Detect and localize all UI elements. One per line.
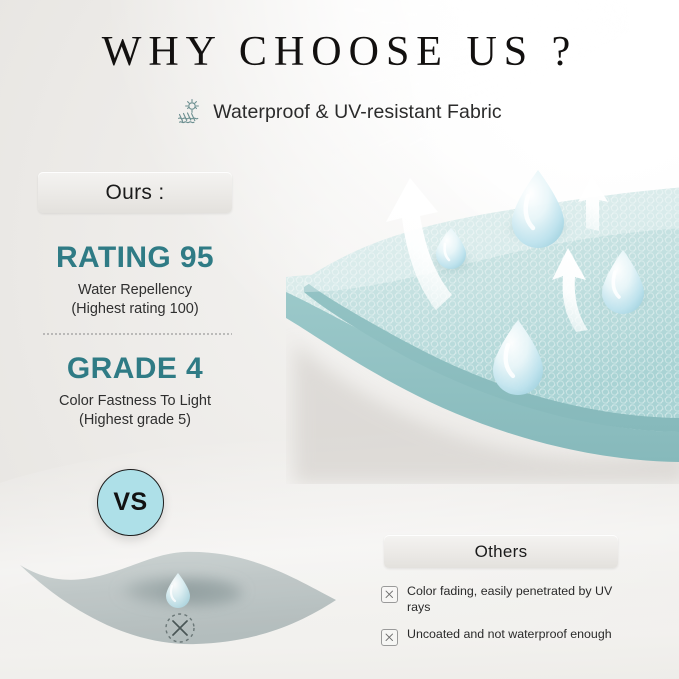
grade-caption-line2: (Highest grade 5) [0,411,270,430]
others-bullet-text: Uncoated and not waterproof enough [407,627,612,643]
grade-caption-line1: Color Fastness To Light [0,392,270,411]
rating-caption-line2: (Highest rating 100) [0,300,270,319]
x-checkbox-icon [381,586,398,603]
gray-soaked-fabric-illustration [14,540,364,672]
others-bullet-text: Color fading, easily penetrated by UV ra… [407,584,627,615]
infographic-canvas: WHY CHOOSE US ? Waterproof & UV-resistan… [0,0,679,679]
rating-caption: Water Repellency (Highest rating 100) [0,281,270,319]
rating-caption-line1: Water Repellency [0,281,270,300]
ours-label: Ours : [106,181,165,205]
grade-caption: Color Fastness To Light (Highest grade 5… [0,392,270,430]
subtitle-row: Waterproof & UV-resistant Fabric [0,98,679,126]
stat-divider [42,333,232,335]
sun-over-water-icon [177,98,203,126]
grade-value: GRADE 4 [0,352,270,386]
others-panel-header: Others [384,535,618,568]
rating-value: RATING 95 [0,241,270,275]
page-title: WHY CHOOSE US ? [0,28,679,76]
others-bullet-item: Color fading, easily penetrated by UV ra… [381,584,627,615]
vs-badge: VS [97,469,164,536]
x-checkbox-icon [381,629,398,646]
subtitle-text: Waterproof & UV-resistant Fabric [213,101,502,124]
others-label: Others [475,542,528,562]
dashed-circle-x-icon [166,614,194,642]
layered-waterproof-fabric-illustration [286,132,679,484]
ours-panel-header: Ours : [38,172,232,213]
others-bullet-item: Uncoated and not waterproof enough [381,627,627,646]
